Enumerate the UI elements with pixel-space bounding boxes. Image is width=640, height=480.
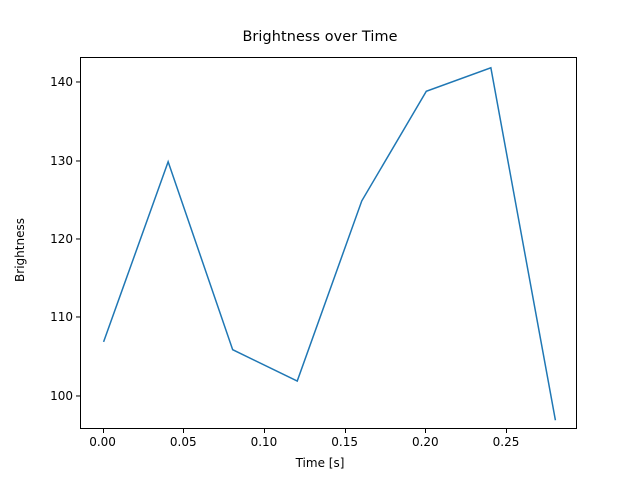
y-tick-mark [76, 395, 80, 396]
y-tick-mark [76, 239, 80, 240]
x-axis-label: Time [s] [0, 456, 640, 470]
y-tick-mark [76, 82, 80, 83]
x-tick-label: 0.25 [471, 435, 541, 449]
y-tick-label: 100 [13, 389, 73, 403]
line-series-svg [81, 58, 578, 430]
x-tick-label: 0.20 [390, 435, 460, 449]
plot-area [80, 57, 577, 429]
x-tick-label: 0.15 [310, 435, 380, 449]
y-tick-mark [76, 317, 80, 318]
y-axis-label: Brightness [13, 150, 27, 350]
y-tick-label: 140 [13, 75, 73, 89]
chart-title: Brightness over Time [0, 29, 640, 45]
x-tick-mark [183, 429, 184, 433]
y-axis-tick-marks [76, 0, 80, 480]
x-tick-label: 0.10 [229, 435, 299, 449]
x-tick-mark [264, 429, 265, 433]
x-tick-label: 0.05 [148, 435, 218, 449]
y-tick-mark [76, 160, 80, 161]
x-tick-mark [506, 429, 507, 433]
x-tick-mark [345, 429, 346, 433]
x-tick-mark [425, 429, 426, 433]
chart-figure: Brightness over Time 100110120130140 0.0… [0, 0, 640, 480]
brightness-line-series [104, 68, 556, 420]
x-tick-mark [103, 429, 104, 433]
x-tick-label: 0.00 [68, 435, 138, 449]
